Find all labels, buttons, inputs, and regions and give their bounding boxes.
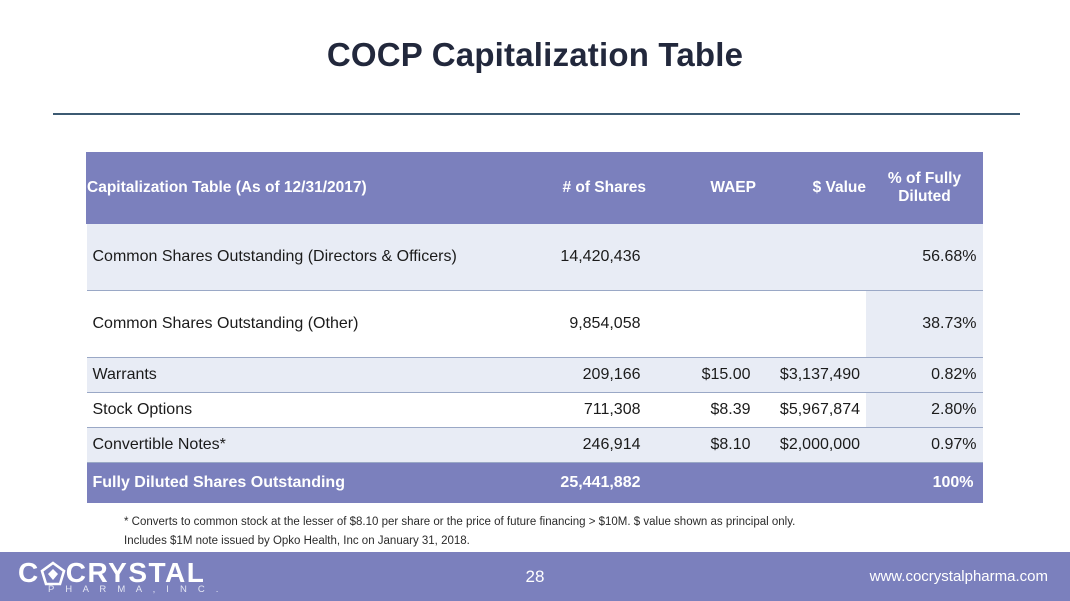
cell-waep	[647, 224, 757, 291]
cell-row-label: Warrants	[87, 358, 487, 393]
slide-canvas: COCP Capitalization Table Capitalization…	[0, 0, 1070, 601]
footer-bar: C CRYSTAL P H A R M A , I N C . 28 www.c…	[0, 552, 1070, 601]
cell-percent: 0.82%	[867, 358, 983, 393]
table-header: Capitalization Table (As of 12/31/2017) …	[87, 153, 983, 224]
table-row: Warrants 209,166 $15.00 $3,137,490 0.82%	[87, 358, 983, 393]
table-row: Convertible Notes* 246,914 $8.10 $2,000,…	[87, 428, 983, 463]
cell-shares: 209,166	[487, 358, 647, 393]
cell-value: $5,967,874	[757, 393, 867, 428]
table-row: Stock Options 711,308 $8.39 $5,967,874 2…	[87, 393, 983, 428]
cell-shares: 246,914	[487, 428, 647, 463]
cell-row-label: Stock Options	[87, 393, 487, 428]
table-row: Common Shares Outstanding (Other) 9,854,…	[87, 291, 983, 358]
website-url: www.cocrystalpharma.com	[870, 552, 1048, 601]
cell-value	[757, 224, 867, 291]
cell-value	[757, 291, 867, 358]
title-divider-rule	[53, 113, 1020, 115]
cell-waep: $8.10	[647, 428, 757, 463]
cell-waep: $8.39	[647, 393, 757, 428]
footnote: * Converts to common stock at the lesser…	[124, 513, 924, 550]
cell-shares: 711,308	[487, 393, 647, 428]
cell-value: $3,137,490	[757, 358, 867, 393]
cell-shares: 14,420,436	[487, 224, 647, 291]
cell-total-label: Fully Diluted Shares Outstanding	[87, 463, 487, 503]
cell-total-percent: 100%	[867, 463, 983, 503]
column-header-percent-fully-diluted: % of Fully Diluted	[867, 153, 983, 224]
capitalization-table-container: Capitalization Table (As of 12/31/2017) …	[86, 152, 982, 503]
cell-percent: 56.68%	[867, 224, 983, 291]
cell-total-waep	[647, 463, 757, 503]
page-title: COCP Capitalization Table	[0, 36, 1070, 74]
cell-percent: 0.97%	[867, 428, 983, 463]
footnote-line-2: Includes $1M note issued by Opko Health,…	[124, 532, 924, 551]
footnote-line-1: * Converts to common stock at the lesser…	[124, 513, 924, 532]
capitalization-table: Capitalization Table (As of 12/31/2017) …	[86, 152, 983, 503]
cell-waep: $15.00	[647, 358, 757, 393]
cell-row-label: Common Shares Outstanding (Directors & O…	[87, 224, 487, 291]
column-header-value: $ Value	[757, 153, 867, 224]
cell-percent: 2.80%	[867, 393, 983, 428]
table-total-row: Fully Diluted Shares Outstanding 25,441,…	[87, 463, 983, 503]
cell-waep	[647, 291, 757, 358]
table-row: Common Shares Outstanding (Directors & O…	[87, 224, 983, 291]
cell-percent: 38.73%	[867, 291, 983, 358]
table-body: Common Shares Outstanding (Directors & O…	[87, 224, 983, 503]
cell-row-label: Convertible Notes*	[87, 428, 487, 463]
cell-total-shares: 25,441,882	[487, 463, 647, 503]
cell-row-label: Common Shares Outstanding (Other)	[87, 291, 487, 358]
column-header-shares: # of Shares	[487, 153, 647, 224]
column-header-name: Capitalization Table (As of 12/31/2017)	[87, 153, 487, 224]
cell-value: $2,000,000	[757, 428, 867, 463]
cell-total-value	[757, 463, 867, 503]
column-header-waep: WAEP	[647, 153, 757, 224]
table-header-row: Capitalization Table (As of 12/31/2017) …	[87, 153, 983, 224]
cell-shares: 9,854,058	[487, 291, 647, 358]
column-header-percent-line1: % of Fully	[888, 170, 961, 187]
column-header-percent-line2: Diluted	[898, 188, 951, 205]
